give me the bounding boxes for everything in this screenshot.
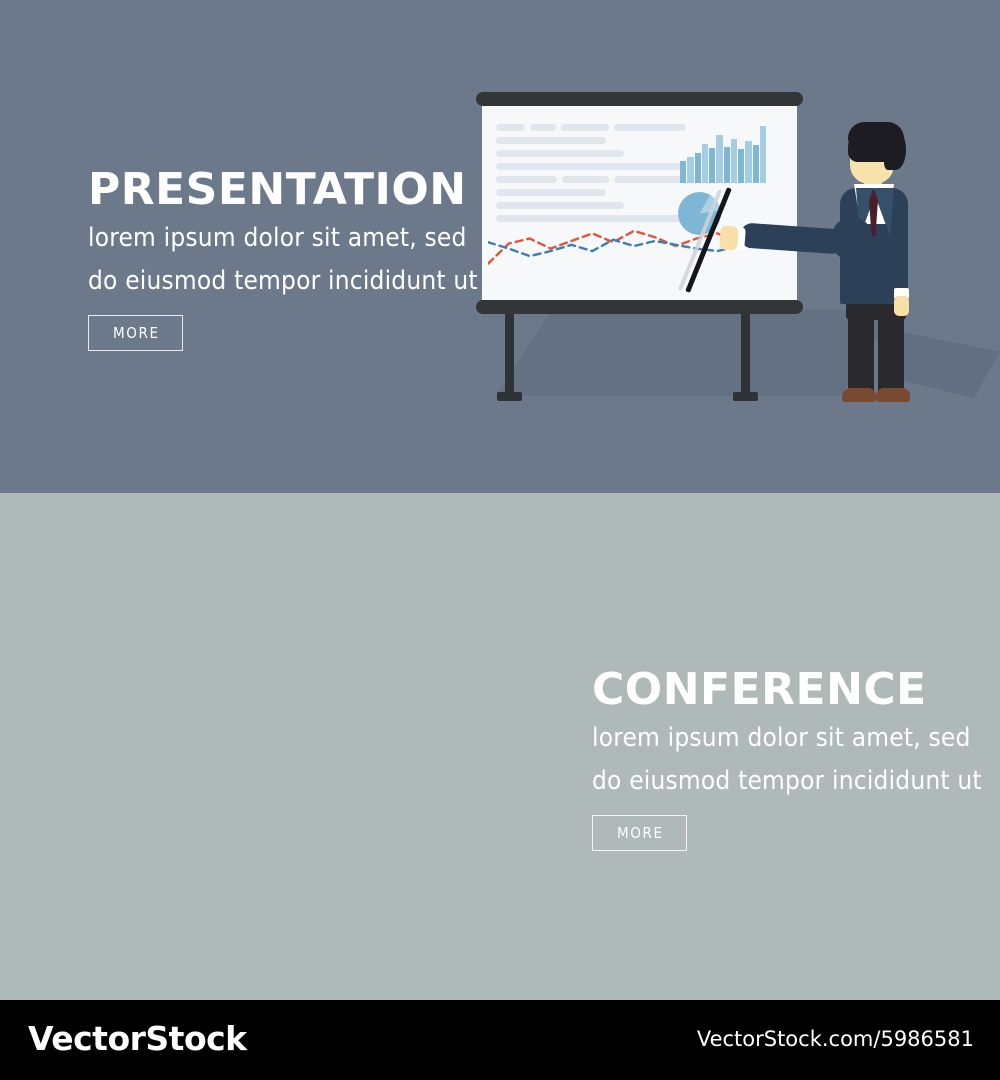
footer-watermark-bar: VectorStock VectorStock.com/5986581 (0, 1000, 1000, 1080)
bar-chart-bar (724, 147, 730, 183)
presentation-subline-1: lorem ipsum dolor sit amet, sed (88, 222, 508, 255)
text-placeholder-row (496, 176, 686, 183)
bar-chart-bar (753, 145, 759, 183)
bar-chart-bar (702, 144, 708, 183)
conference-subline-2: do eiusmod tempor incididunt ut (592, 765, 1000, 798)
presenter-hand (719, 225, 739, 250)
whiteboard-foot-right (733, 392, 758, 401)
text-placeholder-row (496, 189, 686, 196)
bar-chart-bar (760, 126, 766, 183)
banner-presentation: PRESENTATION lorem ipsum dolor sit amet,… (0, 0, 1000, 493)
conference-subline-1: lorem ipsum dolor sit amet, sed (592, 722, 1000, 755)
slide-text-placeholder (496, 124, 686, 228)
conference-headline: CONFERENCE (592, 668, 1000, 712)
presenter-hair-side (884, 128, 906, 170)
presentation-headline: PRESENTATION (88, 168, 508, 212)
bar-chart-bar (709, 148, 715, 183)
whiteboard-screen (482, 106, 797, 300)
whiteboard-top-rail (476, 92, 803, 106)
conference-copy-block: CONFERENCE lorem ipsum dolor sit amet, s… (592, 668, 1000, 851)
text-placeholder-row (496, 137, 686, 144)
text-placeholder-row (496, 150, 686, 157)
whiteboard-leg-right (741, 314, 750, 396)
whiteboard-foot-left (497, 392, 522, 401)
bar-chart-bar (731, 139, 737, 183)
bar-chart-bar (738, 149, 744, 183)
whiteboard (476, 92, 803, 314)
presentation-copy-block: PRESENTATION lorem ipsum dolor sit amet,… (88, 168, 508, 351)
bar-chart-bar (687, 157, 693, 183)
presenter-shoe-left (842, 388, 876, 402)
presenter-figure (818, 122, 938, 404)
text-placeholder-row (496, 163, 686, 170)
slide-bar-chart (680, 125, 766, 183)
bar-chart-bar (695, 153, 701, 183)
banner-conference: CONFERENCE lorem ipsum dolor sit amet, s… (0, 493, 1000, 1000)
bar-chart-bar (745, 141, 751, 183)
conference-more-button[interactable]: MORE (592, 815, 687, 851)
vectorstock-logo: VectorStock (28, 1019, 247, 1058)
presenter-shoe-right (876, 388, 910, 402)
vectorstock-url: VectorStock.com/5986581 (697, 1027, 974, 1051)
text-placeholder-row (496, 124, 686, 131)
whiteboard-bottom-rail (476, 300, 803, 314)
presentation-subline-2: do eiusmod tempor incididunt ut (88, 265, 508, 298)
presenter-hand-right (894, 296, 909, 316)
bar-chart-bar (716, 135, 722, 183)
text-placeholder-row (496, 202, 686, 209)
bar-chart-bar (680, 161, 686, 183)
poster-canvas: PRESENTATION lorem ipsum dolor sit amet,… (0, 0, 1000, 1080)
presentation-more-button[interactable]: MORE (88, 315, 183, 351)
